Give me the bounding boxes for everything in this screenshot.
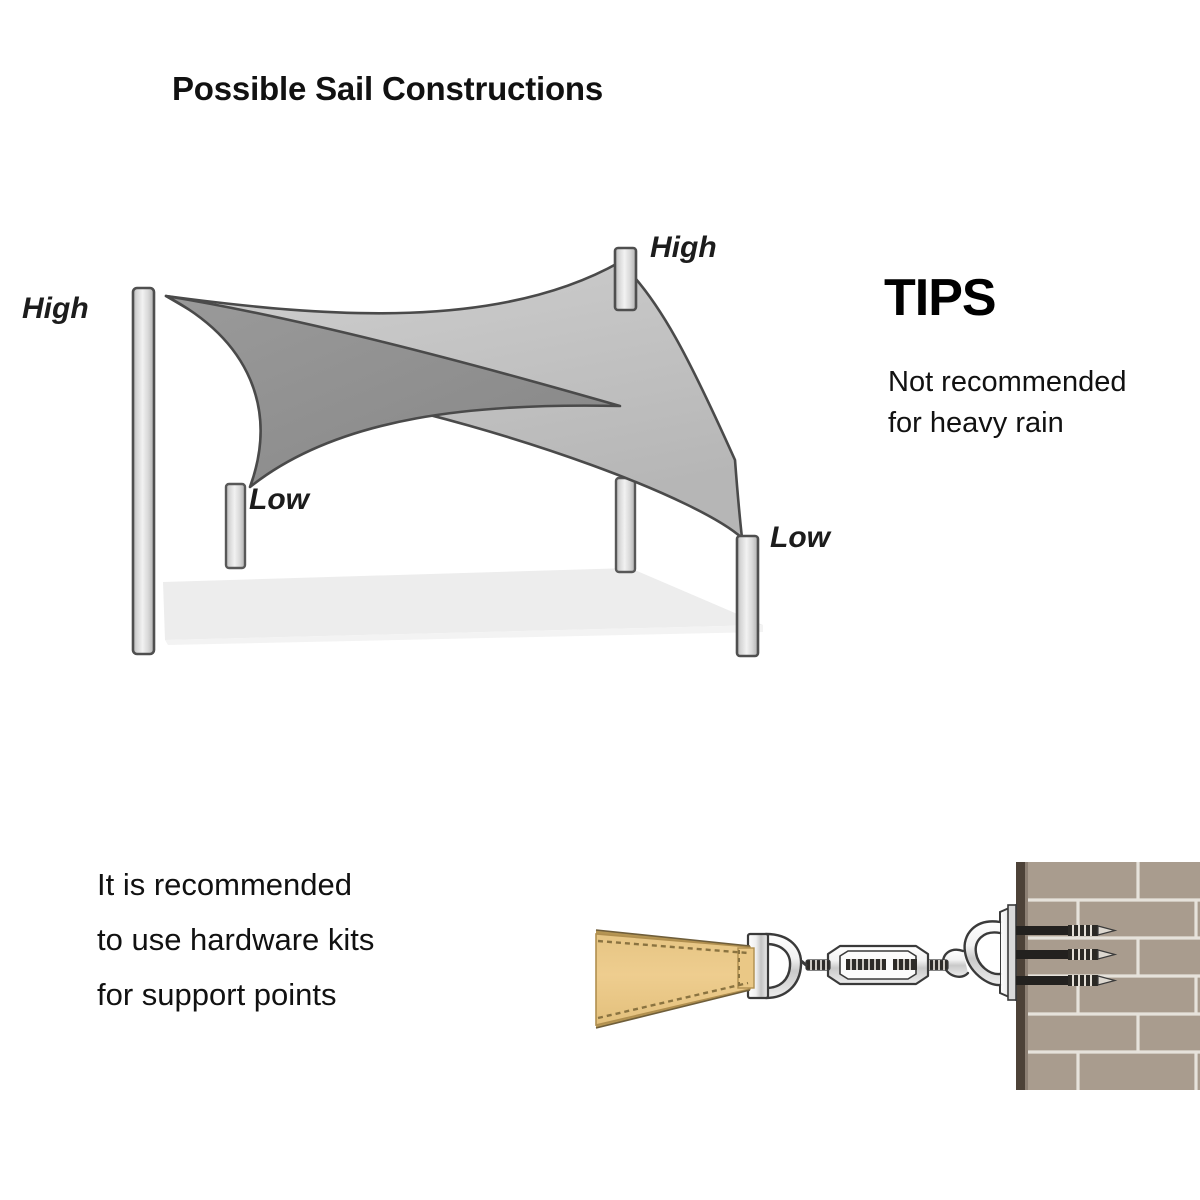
d-ring [748,934,806,998]
hardware-diagram-canvas [0,0,1200,1200]
masonry-anchors [1016,925,1115,986]
wall-mounting-plate [1000,905,1016,1000]
turnbuckle [806,946,948,984]
eye-bolt [934,921,1000,985]
sail-corner-fabric [596,930,754,1028]
diagram-page: Possible Sail Constructions [0,0,1200,1200]
